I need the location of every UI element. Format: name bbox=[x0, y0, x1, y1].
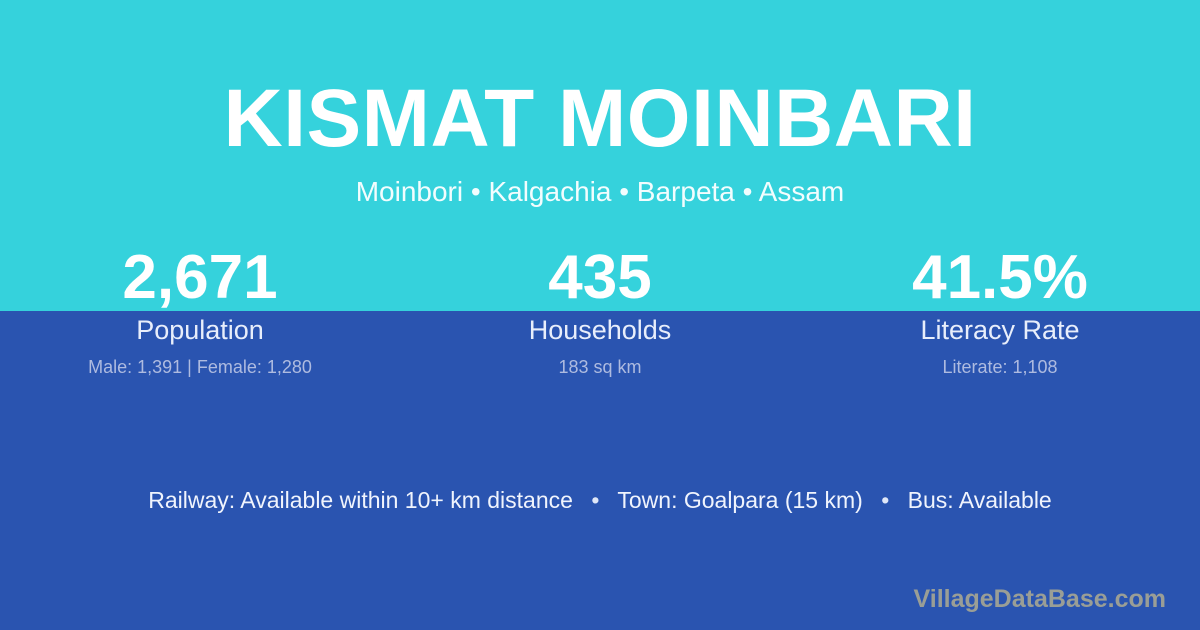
stat-households: 435 Households 183 sq km bbox=[400, 244, 800, 378]
site-watermark: VillageDataBase.com bbox=[914, 584, 1166, 614]
stat-population: 2,671 Population Male: 1,391 | Female: 1… bbox=[0, 244, 400, 378]
facility-bus: Bus: Available bbox=[908, 487, 1052, 513]
stat-label-households: Households bbox=[400, 314, 800, 346]
stat-value-households: 435 bbox=[400, 244, 800, 312]
page-title: KISMAT MOINBARI bbox=[0, 0, 1200, 160]
stat-literacy-rate: 41.5% Literacy Rate Literate: 1,108 bbox=[800, 244, 1200, 378]
stat-sub-literacy-rate: Literate: 1,108 bbox=[800, 356, 1200, 378]
village-info-card: KISMAT MOINBARI Moinbori • Kalgachia • B… bbox=[0, 0, 1200, 630]
facility-town: Town: Goalpara (15 km) bbox=[617, 487, 862, 513]
stat-sub-households: 183 sq km bbox=[400, 356, 800, 378]
breadcrumb: Moinbori • Kalgachia • Barpeta • Assam bbox=[0, 160, 1200, 206]
stat-sub-population: Male: 1,391 | Female: 1,280 bbox=[0, 356, 400, 378]
stats-row: 2,671 Population Male: 1,391 | Female: 1… bbox=[0, 244, 1200, 378]
facility-summary-line: Railway: Available within 10+ km distanc… bbox=[0, 484, 1200, 516]
card-header: KISMAT MOINBARI Moinbori • Kalgachia • B… bbox=[0, 0, 1200, 206]
stat-value-literacy-rate: 41.5% bbox=[800, 244, 1200, 312]
facility-separator-dot: • bbox=[869, 484, 901, 516]
stat-label-population: Population bbox=[0, 314, 400, 346]
stat-label-literacy-rate: Literacy Rate bbox=[800, 314, 1200, 346]
facility-railway: Railway: Available within 10+ km distanc… bbox=[148, 487, 573, 513]
facility-separator-dot: • bbox=[579, 484, 611, 516]
stat-value-population: 2,671 bbox=[0, 244, 400, 312]
